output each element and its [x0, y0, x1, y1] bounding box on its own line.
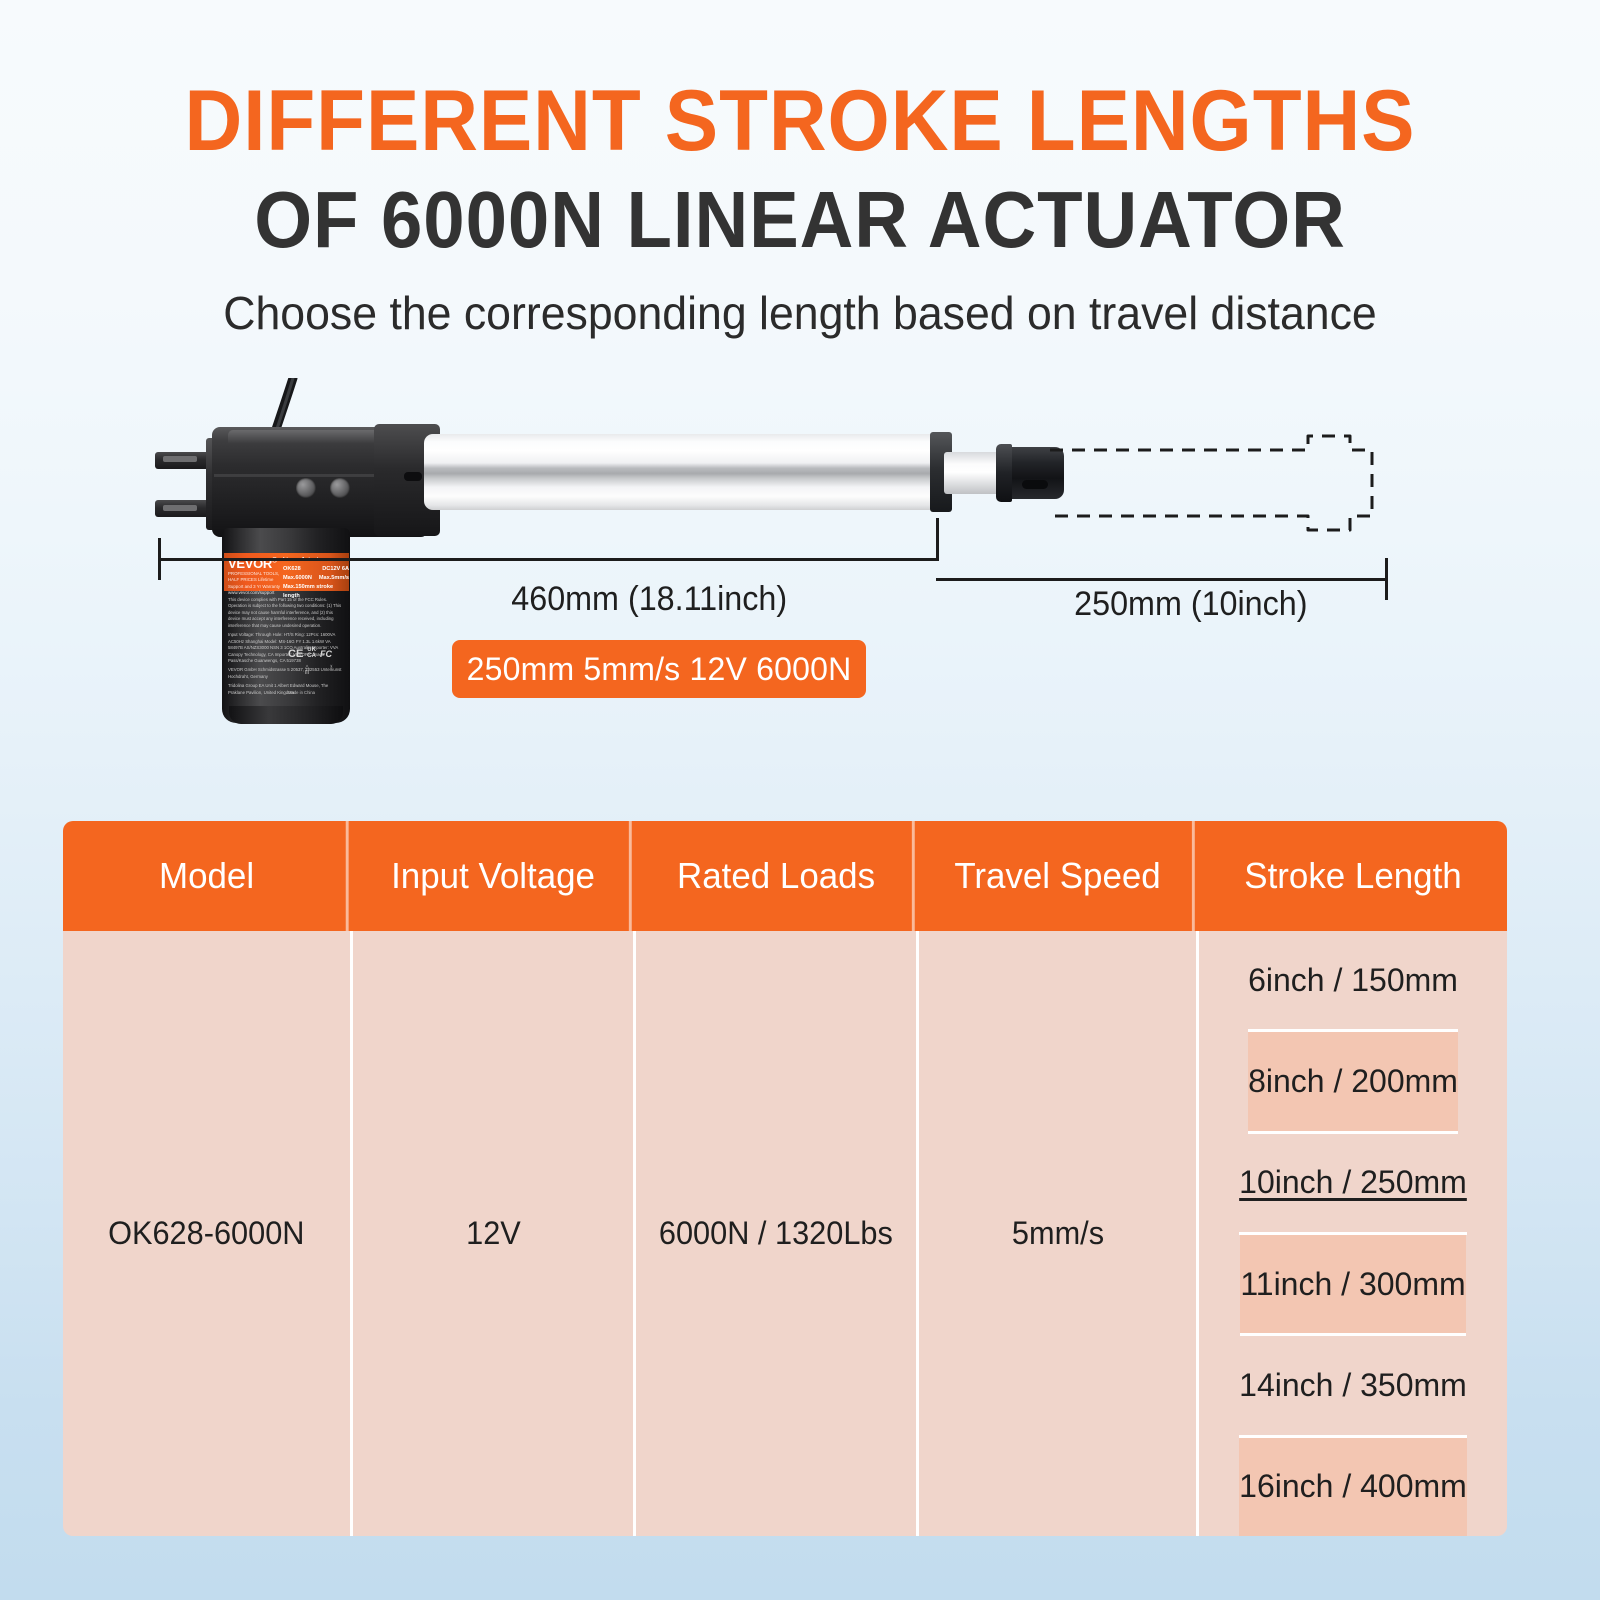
table-header-row: Model Input Voltage Rated Loads Travel S…	[63, 821, 1507, 931]
stroke-option-label: 16inch / 400mm	[1239, 1468, 1467, 1505]
dim-line-460	[158, 558, 939, 561]
table-header-stroke-length: Stroke Length	[1204, 821, 1503, 931]
stroke-option-0[interactable]: 6inch / 150mm	[1248, 931, 1458, 1032]
rod-end-collar	[996, 444, 1012, 502]
label-compliance-text: This device complies with Part 15 of the…	[228, 597, 346, 629]
table-header-travel-speed: Travel Speed	[923, 821, 1195, 931]
table-header-model: Model	[67, 821, 348, 931]
cable-gland-screw-left	[296, 478, 316, 498]
dim-tick-right	[1385, 558, 1388, 600]
page-subtitle: Choose the corresponding length based on…	[24, 286, 1576, 340]
stroke-option-label-selected: 10inch / 250mm	[1239, 1164, 1467, 1201]
ce-mark-icon: CE	[288, 648, 303, 660]
dim-tick-mid	[936, 518, 939, 560]
certification-marks: CE UKCA FC	[288, 648, 332, 660]
label-rep-eu-text: VEVOR GmbH Schmidstrasse 5 20537, 182553…	[228, 667, 346, 680]
rear-bracket-pin-bottom	[163, 505, 197, 511]
stroke-option-1[interactable]: 8inch / 200mm	[1248, 1032, 1458, 1133]
stroke-option-label: 8inch / 200mm	[1248, 1063, 1458, 1100]
label-spec-voltage: DC12V 6A	[322, 565, 349, 574]
fcc-mark-icon: FC	[320, 649, 332, 659]
selected-variant-badge: 250mm 5mm/s 12V 6000N	[452, 640, 866, 698]
table-value-rated-loads: 6000N / 1320Lbs	[659, 1215, 893, 1252]
stroke-option-label: 6inch / 150mm	[1248, 962, 1458, 999]
stroke-option-label: 11inch / 300mm	[1240, 1266, 1465, 1303]
table-value-travel-speed: 5mm/s	[1011, 1215, 1103, 1252]
table-body: OK628-6000N 12V 6000N / 1320Lbs 5mm/s 6i…	[63, 931, 1507, 1536]
gearbox-notch	[404, 472, 422, 481]
ukca-mark-icon: UKCA	[307, 648, 316, 659]
weee-bin-icon: ☓	[330, 664, 342, 680]
extended-stroke-outline	[1050, 430, 1390, 540]
label-spec-force: Max.6000N	[283, 574, 312, 583]
stroke-option-label: 14inch / 350mm	[1239, 1367, 1467, 1404]
dim-line-250	[936, 578, 1388, 581]
table-value-input-voltage: 12V	[466, 1215, 521, 1252]
stroke-option-2[interactable]: 10inch / 250mm	[1239, 1134, 1467, 1235]
rod-end-mounting-hole	[1022, 480, 1048, 489]
table-cell-stroke-lengths: 6inch / 150mm 8inch / 200mm 10inch / 250…	[1199, 931, 1507, 1536]
label-made-in-text: Made in China	[288, 690, 315, 695]
aluminium-outer-tube	[424, 434, 944, 510]
label-regulatory-block: This device complies with Part 15 of the…	[224, 593, 349, 701]
cable-gland-screw-right	[330, 478, 350, 498]
table-cell-rated-loads: 6000N / 1320Lbs	[636, 931, 919, 1536]
class-iii-mark-icon: △III	[300, 664, 314, 680]
title-line-1: DIFFERENT STROKE LENGTHS	[56, 78, 1544, 164]
table-cell-travel-speed: 5mm/s	[919, 931, 1199, 1536]
label-spec-speed: Max.5mm/s	[319, 574, 349, 583]
table-header-rated-loads: Rated Loads	[640, 821, 915, 931]
table-value-model: OK628-6000N	[108, 1215, 304, 1252]
stroke-option-4[interactable]: 14inch / 350mm	[1239, 1336, 1467, 1437]
label-rep-uk-text: Tridolina Group EA Unit 1 Albert Edward …	[228, 683, 346, 696]
motor-end-cap	[229, 706, 343, 724]
table-cell-model: OK628-6000N	[63, 931, 353, 1536]
page-header: DIFFERENT STROKE LENGTHS OF 6000N LINEAR…	[0, 0, 1600, 340]
specification-table: Model Input Voltage Rated Loads Travel S…	[63, 821, 1507, 1536]
stroke-option-3[interactable]: 11inch / 300mm	[1240, 1235, 1465, 1336]
dim-label-250: 250mm (10inch)	[1074, 585, 1307, 624]
table-header-input-voltage: Input Voltage	[357, 821, 632, 931]
title-line-2: OF 6000N LINEAR ACTUATOR	[56, 180, 1544, 260]
dim-label-460: 460mm (18.11inch)	[511, 580, 787, 619]
rear-bracket-pin-top	[163, 456, 197, 462]
stroke-option-5[interactable]: 16inch / 400mm	[1239, 1438, 1467, 1536]
table-cell-input-voltage: 12V	[353, 931, 636, 1536]
label-spec-model: OK628	[283, 565, 301, 574]
